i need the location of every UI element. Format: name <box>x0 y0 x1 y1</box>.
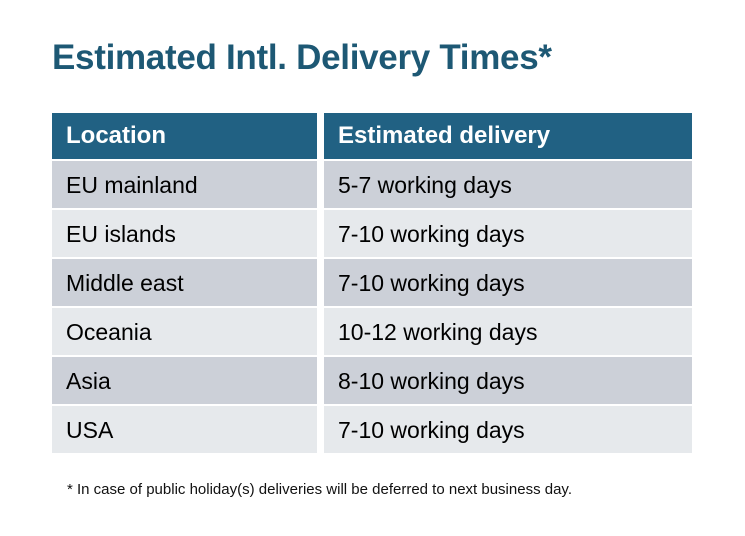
cell-estimated-delivery: 7-10 working days <box>324 259 692 306</box>
table-row: EU mainland 5-7 working days <box>52 161 692 208</box>
cell-location: EU mainland <box>52 161 317 208</box>
table-row: Oceania 10-12 working days <box>52 308 692 355</box>
cell-location: EU islands <box>52 210 317 257</box>
delivery-times-table: Location Estimated delivery EU mainland … <box>52 113 692 455</box>
cell-location: USA <box>52 406 317 453</box>
cell-estimated-delivery: 5-7 working days <box>324 161 692 208</box>
cell-estimated-delivery: 7-10 working days <box>324 210 692 257</box>
cell-location: Middle east <box>52 259 317 306</box>
delivery-times-page: Estimated Intl. Delivery Times* Location… <box>0 0 745 536</box>
table-row: EU islands 7-10 working days <box>52 210 692 257</box>
column-header-estimated-delivery: Estimated delivery <box>324 113 692 159</box>
page-title: Estimated Intl. Delivery Times* <box>52 36 552 80</box>
table-row: USA 7-10 working days <box>52 406 692 453</box>
cell-estimated-delivery: 7-10 working days <box>324 406 692 453</box>
table-row: Asia 8-10 working days <box>52 357 692 404</box>
table-header-row: Location Estimated delivery <box>52 113 692 159</box>
cell-location: Asia <box>52 357 317 404</box>
cell-estimated-delivery: 10-12 working days <box>324 308 692 355</box>
table-row: Middle east 7-10 working days <box>52 259 692 306</box>
footnote-text: * In case of public holiday(s) deliverie… <box>67 480 572 500</box>
cell-location: Oceania <box>52 308 317 355</box>
column-header-location: Location <box>52 113 317 159</box>
cell-estimated-delivery: 8-10 working days <box>324 357 692 404</box>
